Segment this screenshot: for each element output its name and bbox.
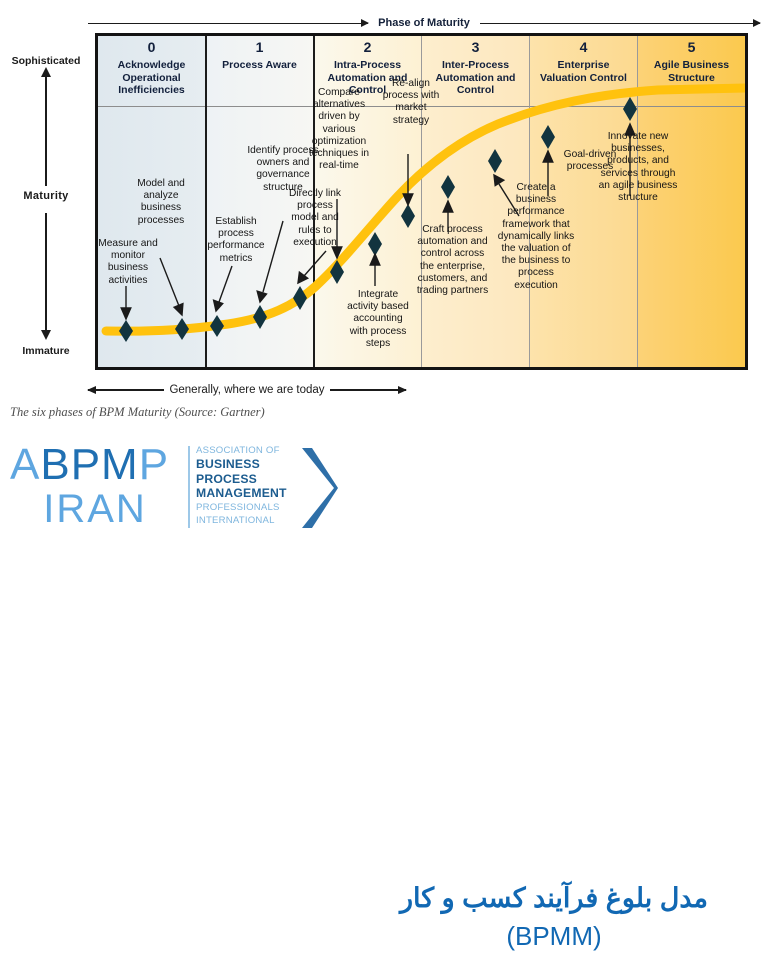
axis-label-sophisticated: Sophisticated — [2, 55, 90, 67]
wordmark-bpm: BPM — [40, 440, 138, 489]
logo-line-international: INTERNATIONAL — [196, 514, 301, 527]
annotation-directly-link: Directly link process model and rules to… — [284, 188, 346, 249]
curve-marker-8 — [441, 175, 455, 199]
annotation-innovate-new: Innovate new businesses, products, and s… — [598, 131, 678, 204]
logo-line-business: BUSINESS — [196, 457, 301, 472]
curve-marker-9 — [488, 149, 502, 173]
logo-line-process: PROCESS — [196, 472, 301, 487]
axis-arrow-down-icon — [45, 213, 47, 331]
curve-marker-7 — [401, 204, 415, 228]
logo-line-professionals: PROFESSIONALS — [196, 501, 301, 514]
annotation-establish-metrics: Establish process performance metrics — [204, 216, 268, 265]
curve-marker-11 — [623, 97, 637, 121]
farsi-title: مدل بلوغ فرآیند کسب و کار — [350, 878, 758, 918]
abpmp-country: IRAN — [10, 488, 180, 530]
annotation-model-analyze: Model and analyze business processes — [126, 178, 196, 227]
curve-marker-1 — [175, 318, 189, 340]
axis-label-immature: Immature — [2, 345, 90, 357]
annotation-measure-monitor: Measure and monitor business activities — [95, 238, 163, 287]
wordmark-a: A — [10, 440, 40, 489]
annotation-realign-market: Re-align process with market strategy — [378, 78, 444, 127]
curve-marker-2 — [210, 315, 224, 337]
logo-line-association: ASSOCIATION OF — [196, 444, 301, 457]
annotation-craft-automation: Craft process automation and control acr… — [416, 224, 489, 297]
logo-line-management: MANAGEMENT — [196, 486, 301, 501]
chevron-right-icon — [298, 446, 340, 530]
farsi-title-block: مدل بلوغ فرآیند کسب و کار (BPMM) — [350, 878, 758, 954]
curve-marker-0 — [119, 320, 133, 342]
wordmark-p: P — [139, 440, 169, 489]
annotation-integrate-accounting: Integrate activity based accounting with… — [345, 289, 411, 350]
abpmp-logo: ABPMP IRAN ASSOCIATION OF BUSINESS PROCE… — [10, 440, 330, 545]
phase-axis-arrow-left — [88, 23, 368, 24]
axis-label-maturity: Maturity — [2, 190, 90, 202]
today-arrow-left-icon — [88, 389, 164, 390]
maturity-matrix: 0 Acknowledge Operational Inefficiencies… — [95, 33, 748, 370]
abpmp-expansion: ASSOCIATION OF BUSINESS PROCESS MANAGEME… — [196, 444, 301, 527]
today-indicator: Generally, where we are today — [88, 380, 406, 400]
curve-marker-3 — [253, 305, 267, 329]
phase-axis-label: Phase of Maturity — [368, 17, 480, 29]
logo-divider — [188, 446, 190, 528]
annotation-compare-alternatives: Compare alternatives driven by various o… — [306, 87, 372, 172]
phase-axis-arrow-right — [480, 23, 760, 24]
axis-arrow-up-icon — [45, 76, 47, 186]
bpm-maturity-figure: Phase of Maturity Sophisticated Maturity… — [0, 0, 768, 562]
figure-source-caption: The six phases of BPM Maturity (Source: … — [10, 405, 265, 420]
phase-of-maturity-axis: Phase of Maturity — [88, 12, 760, 34]
farsi-subtitle: (BPMM) — [350, 918, 758, 954]
maturity-axis: Sophisticated Maturity Immature — [0, 50, 92, 370]
today-label: Generally, where we are today — [164, 384, 329, 396]
annotation-create-framework: Create a business performance framework … — [496, 182, 576, 292]
today-arrow-right-icon — [330, 389, 406, 390]
curve-marker-10 — [541, 125, 555, 149]
footer: ABPMP IRAN ASSOCIATION OF BUSINESS PROCE… — [0, 432, 768, 562]
abpmp-wordmark: ABPMP — [10, 442, 180, 488]
